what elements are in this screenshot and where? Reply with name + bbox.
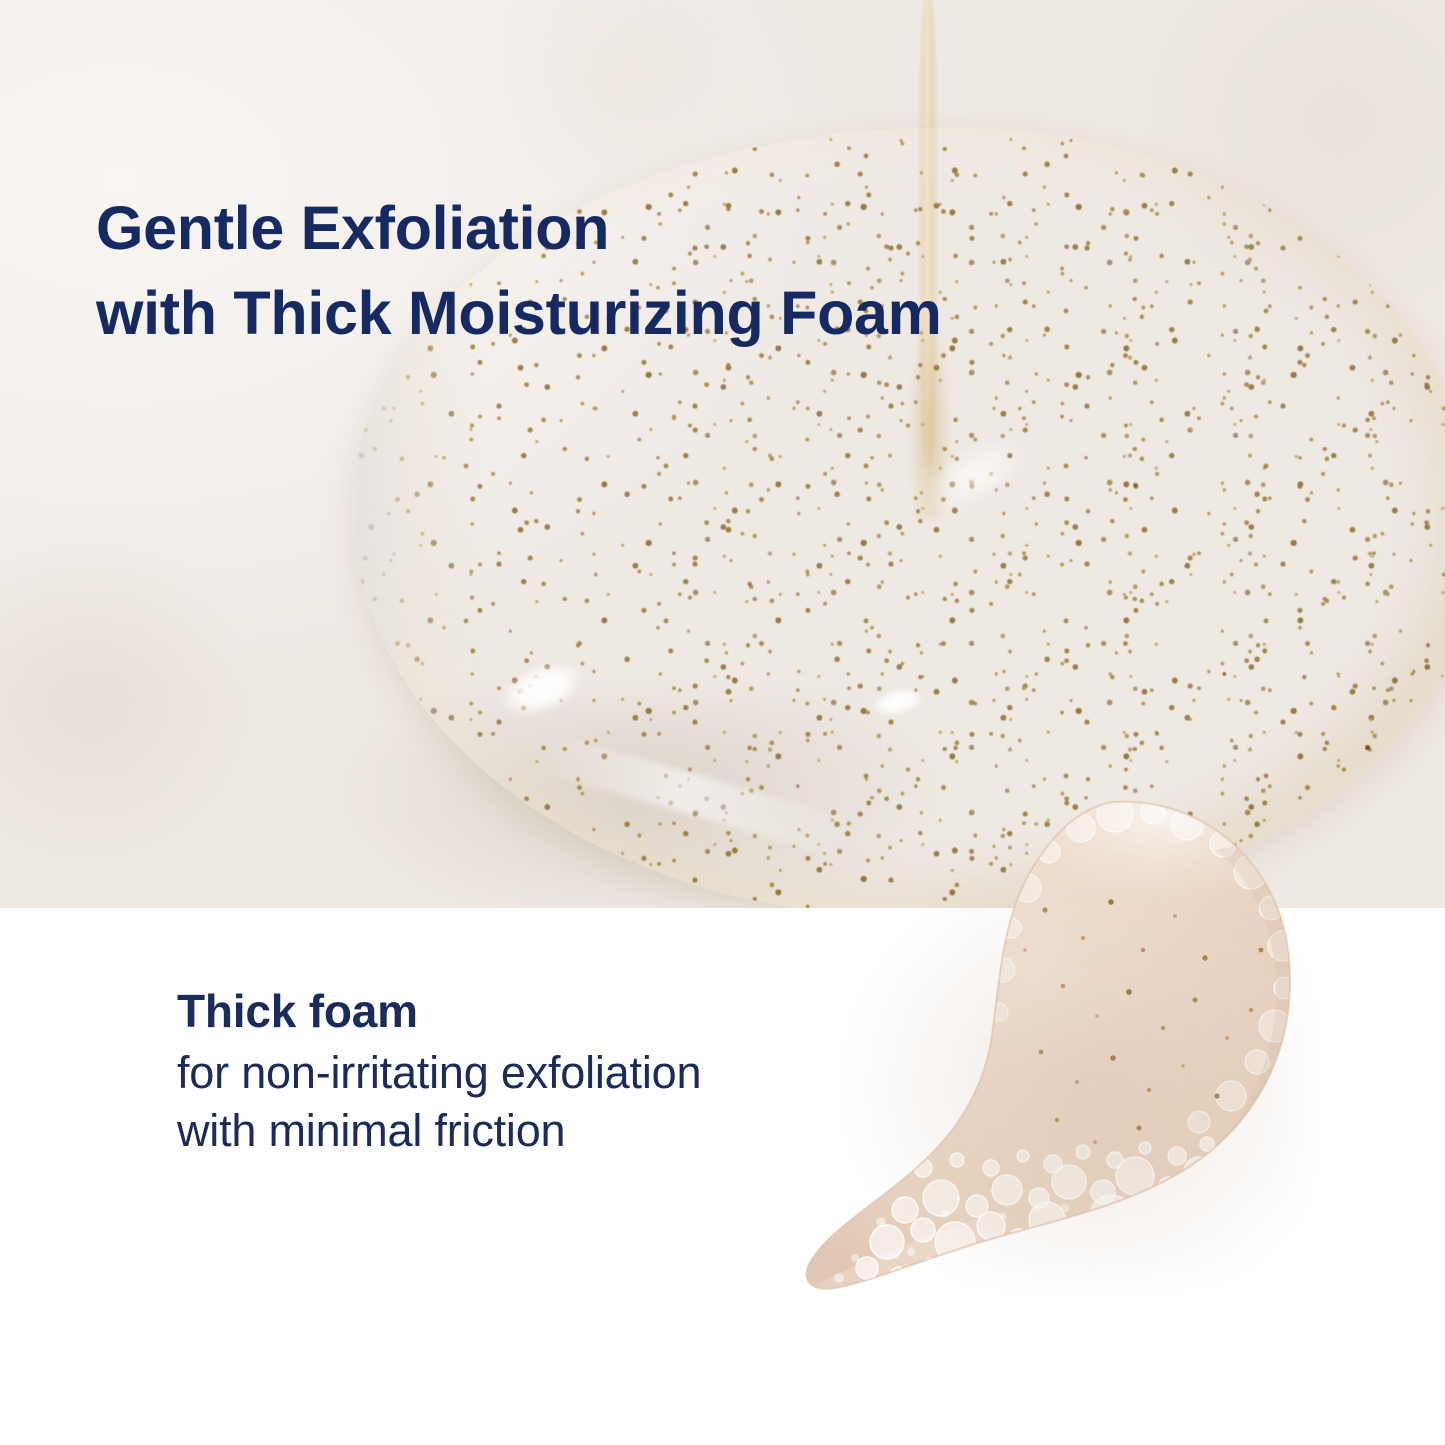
caption-title: Thick foam [177, 988, 701, 1034]
caption-line-2: with minimal friction [177, 1102, 701, 1160]
page-title: Gentle Exfoliation with Thick Moisturizi… [96, 186, 942, 356]
caption-block: Thick foam for non-irritating exfoliatio… [177, 988, 701, 1159]
product-feature-graphic: Gentle Exfoliation with Thick Moisturizi… [0, 0, 1445, 1445]
caption-line-1: for non-irritating exfoliation [177, 1044, 701, 1102]
product-texture-photo: Gentle Exfoliation with Thick Moisturizi… [0, 0, 1445, 908]
